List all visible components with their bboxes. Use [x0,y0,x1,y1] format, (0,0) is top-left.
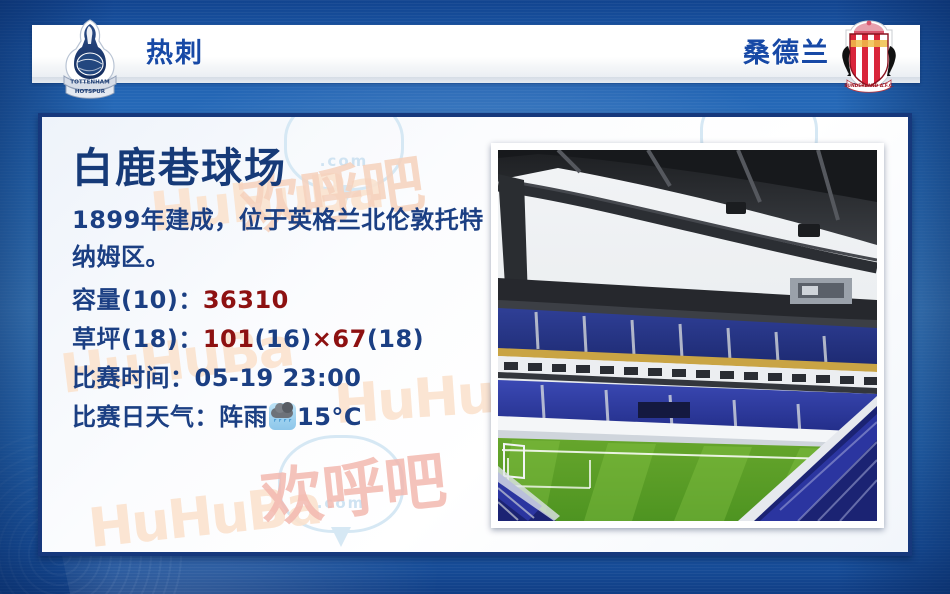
stadium-info-panel: .com .com .com HuHuBa HuHuBa HuHuBa HuHu… [38,113,912,556]
capacity-line: 容量(10)：36310 [72,281,502,320]
match-time-label: 比赛时间： [72,364,195,392]
sunderland-afc-crest: SUNDERLAND A.F.C. [838,18,900,94]
weather-line: 比赛日天气：阵雨15°C [72,398,502,437]
away-team-name: 桑德兰 [743,31,830,70]
watermark-brand-en-4: HuHuBa [85,473,323,556]
weather-temperature: 15°C [297,403,362,431]
capacity-value: 36310 [203,286,289,314]
pitch-length-unit: (16) [254,325,311,353]
stadium-description: 1899年建成，位于英格兰北伦敦托特纳姆区。 [72,202,502,275]
stadium-title: 白鹿巷球场 [72,145,502,192]
watermark-brand-cn-2: 欢呼吧 [256,430,450,539]
pitch-width-value: 67 [332,325,366,353]
match-time-line: 比赛时间：05-19 23:00 [72,359,502,398]
watermark-bubble-3: .com [278,435,404,533]
home-team-name: 热刺 [146,31,204,70]
tottenham-hotspur-crest: TOTTENHAM HOTSPUR [58,18,122,100]
weather-label: 比赛日天气： [72,403,219,431]
weather-condition: 阵雨 [219,403,268,431]
stadium-photo-frame [491,143,884,528]
pitch-length-value: 101 [203,325,255,353]
crest-scroll-top-text: TOTTENHAM [70,80,110,86]
pitch-label: 草坪(18)： [72,325,203,353]
pitch-line: 草坪(18)：101(16)×67(18) [72,320,502,359]
stadium-info-block: 白鹿巷球场 1899年建成，位于英格兰北伦敦托特纳姆区。 容量(10)：3631… [72,145,502,437]
capacity-label: 容量(10)： [72,286,203,314]
pitch-times-symbol: × [312,325,333,353]
crest-scroll-text: SUNDERLAND A.F.C. [844,83,894,89]
match-time-value: 05-19 23:00 [195,364,362,392]
shower-rain-icon [269,403,296,430]
pitch-width-unit: (18) [367,325,424,353]
crest-scroll-bottom-text: HOTSPUR [75,89,106,95]
white-hart-lane-stadium-photo [498,150,877,521]
